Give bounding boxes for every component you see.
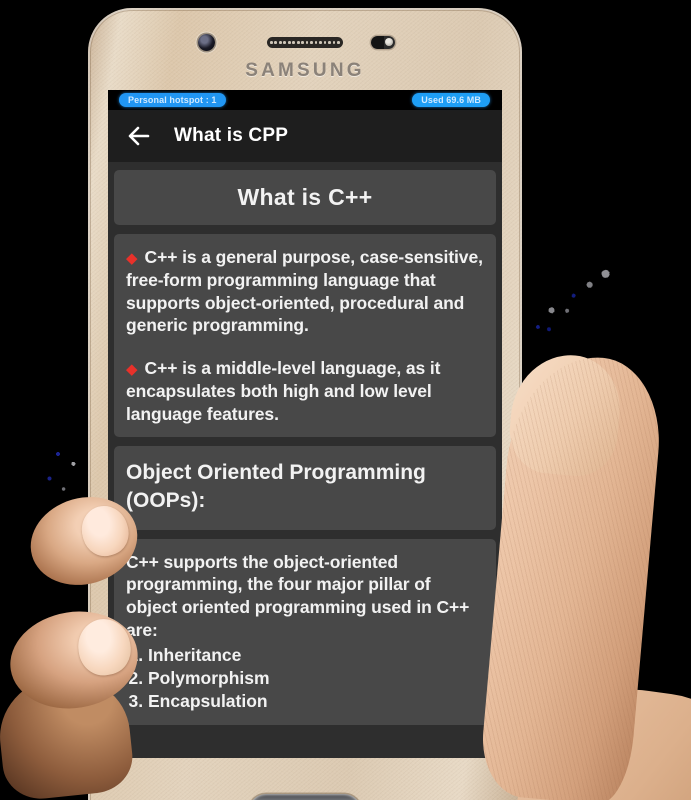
list-item: Polymorphism (148, 667, 484, 690)
heading-card: What is C++ (114, 170, 496, 225)
definition-paragraph-1-text: C++ is a general purpose, case-sensitive… (126, 247, 483, 335)
front-camera-icon (198, 34, 215, 51)
list-item: Inheritance (148, 644, 484, 667)
definition-paragraph-2: ◆C++ is a middle-level language, as it e… (126, 357, 484, 425)
brand-logo: SAMSUNG (88, 60, 522, 82)
page-title: What is CPP (174, 125, 288, 147)
content-scroll-area[interactable]: What is C++ ◆C++ is a general purpose, c… (108, 162, 502, 725)
status-badge-hotspot: Personal hotspot : 1 (119, 93, 226, 107)
phone-screen: Personal hotspot : 1 Used 69.6 MB What i… (108, 90, 502, 758)
thumb-tip (506, 350, 624, 479)
screenshot-stage: SAMSUNG Personal hotspot : 1 Used 69.6 M… (0, 0, 691, 800)
definition-paragraph-2-text: C++ is a middle-level language, as it en… (126, 358, 440, 424)
section-heading-card: Object Oriented Programming (OOPs): (114, 446, 496, 529)
oops-card: C++ supports the object-oriented program… (114, 539, 496, 726)
oops-intro-text: C++ supports the object-oriented program… (126, 551, 484, 642)
diamond-bullet-icon: ◆ (126, 250, 138, 267)
definition-paragraph-1: ◆C++ is a general purpose, case-sensitiv… (126, 246, 484, 337)
status-bar: Personal hotspot : 1 Used 69.6 MB (108, 90, 502, 110)
proximity-sensor-icon (371, 36, 395, 49)
status-badge-data-used: Used 69.6 MB (412, 93, 490, 107)
definition-card: ◆C++ is a general purpose, case-sensitiv… (114, 234, 496, 437)
back-arrow-icon[interactable] (126, 123, 152, 149)
list-item: Encapsulation (148, 690, 484, 713)
oops-pillars-list: Inheritance Polymorphism Encapsulation (126, 644, 484, 714)
artifact-pixels-right (507, 262, 636, 354)
earpiece-speaker (267, 37, 343, 48)
right-hand-palm (507, 675, 691, 800)
samsung-phone: SAMSUNG Personal hotspot : 1 Used 69.6 M… (88, 8, 522, 800)
home-button[interactable] (249, 794, 361, 800)
diamond-bullet-icon: ◆ (126, 361, 138, 378)
section-heading-title: Object Oriented Programming (OOPs): (126, 459, 484, 514)
app-bar: What is CPP (108, 110, 502, 162)
heading-card-title: What is C++ (126, 184, 484, 211)
